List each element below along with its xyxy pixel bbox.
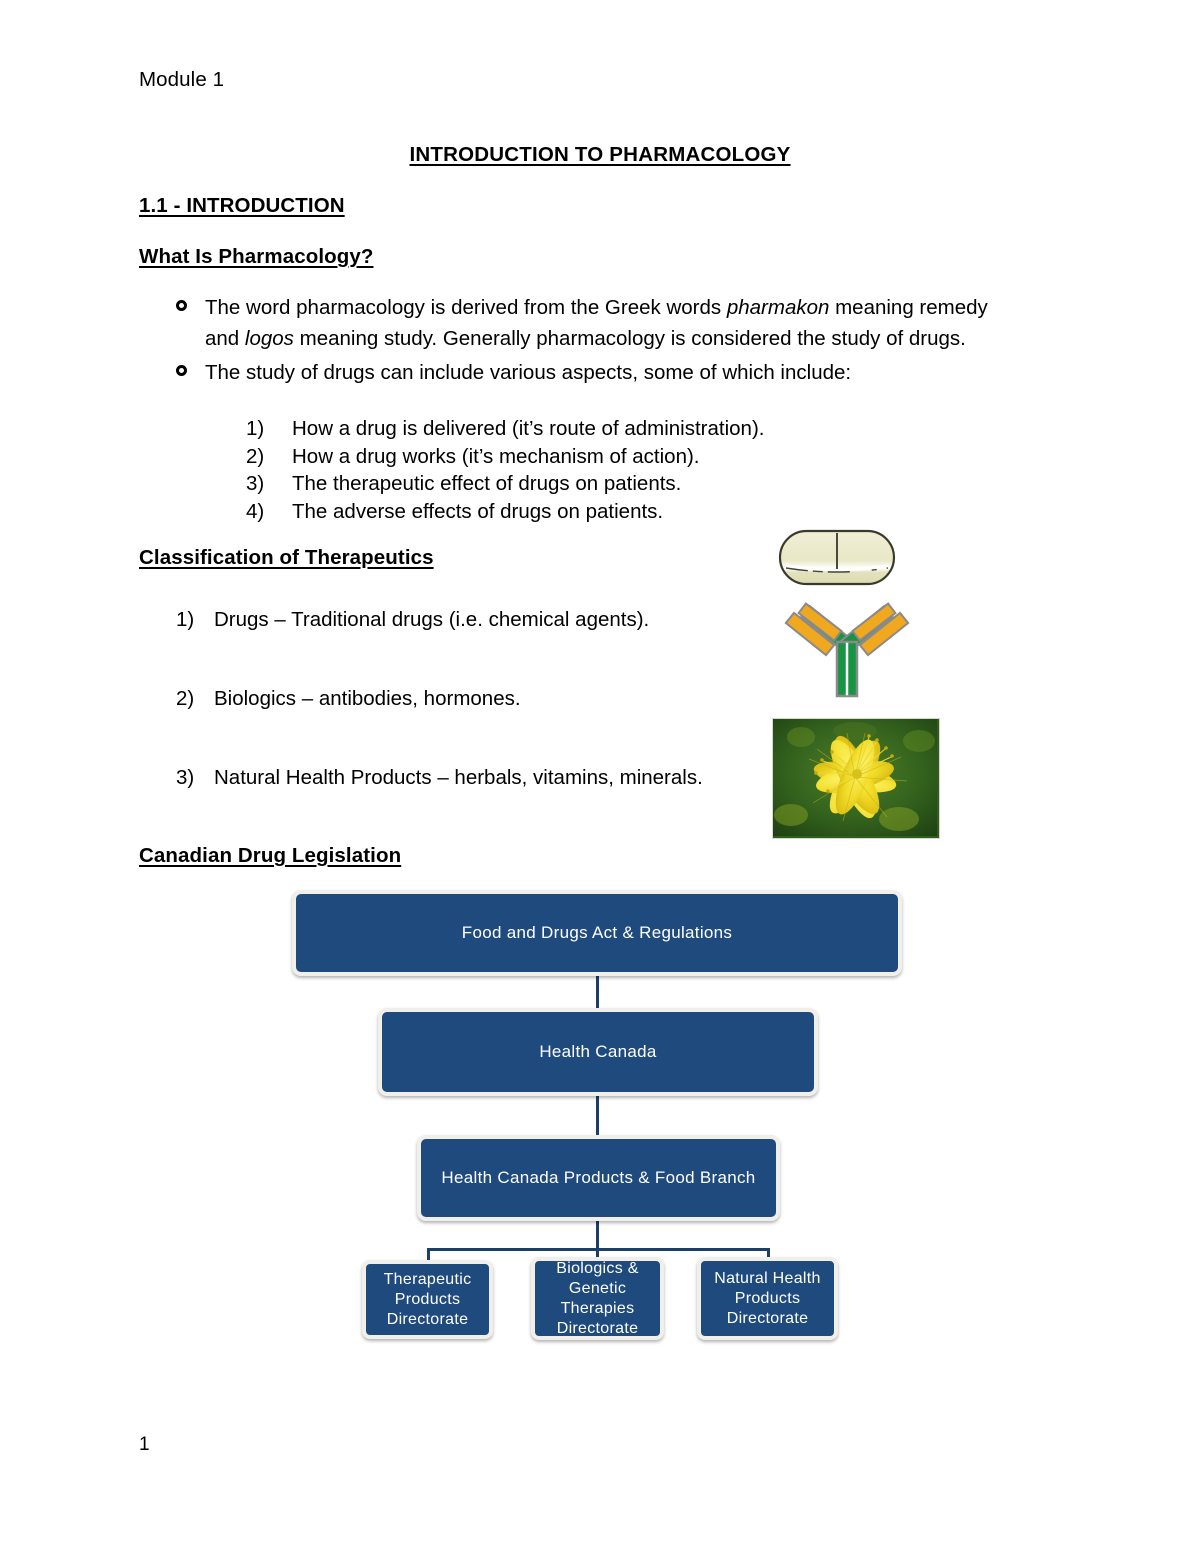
list-item-text: Biologics – antibodies, hormones.: [214, 687, 521, 711]
aspects-numbered-list: 1) How a drug is delivered (it’s route o…: [246, 415, 946, 525]
subheading-what-is-pharmacology: What Is Pharmacology?: [139, 245, 373, 269]
list-marker: 1): [176, 608, 214, 632]
list-item: The word pharmacology is derived from th…: [176, 292, 1021, 354]
list-item-text: Drugs – Traditional drugs (i.e. chemical…: [214, 608, 649, 632]
list-item-text: How a drug works (it’s mechanism of acti…: [292, 443, 700, 471]
flowchart-node-food-and-drugs-act[interactable]: Food and Drugs Act & Regulations: [292, 890, 902, 976]
list-marker: 2): [176, 687, 214, 711]
flowchart-node-biologics-genetic-therapies-directorate[interactable]: Biologics & Genetic Therapies Directorat…: [531, 1257, 664, 1340]
list-item: 3) Natural Health Products – herbals, vi…: [176, 766, 796, 845]
list-item-text: The adverse effects of drugs on patients…: [292, 498, 663, 526]
list-item: 2) Biologics – antibodies, hormones.: [176, 687, 796, 766]
list-item: 4) The adverse effects of drugs on patie…: [246, 498, 946, 526]
list-item-text: Natural Health Products – herbals, vitam…: [214, 766, 703, 790]
subheading-classification-of-therapeutics: Classification of Therapeutics: [139, 546, 434, 570]
subheading-canadian-drug-legislation: Canadian Drug Legislation: [139, 844, 401, 868]
list-item: 1) Drugs – Traditional drugs (i.e. chemi…: [176, 608, 796, 687]
list-item-text: How a drug is delivered (it’s route of a…: [292, 415, 764, 443]
connector-healthcanada-to-branch: [596, 1095, 599, 1137]
ring-bullet-icon: [176, 300, 187, 311]
list-marker: 4): [246, 498, 292, 526]
flowchart-node-health-canada[interactable]: Health Canada: [378, 1008, 818, 1096]
classification-numbered-list: 1) Drugs – Traditional drugs (i.e. chemi…: [176, 608, 796, 845]
st-johns-wort-flower-photo: [772, 718, 940, 839]
antibody-illustration: [781, 598, 913, 698]
list-item: The study of drugs can include various a…: [176, 357, 1021, 388]
list-marker: 3): [246, 470, 292, 498]
page-number: 1: [139, 1434, 150, 1456]
flowchart-node-health-canada-products-food-branch[interactable]: Health Canada Products & Food Branch: [417, 1135, 780, 1221]
canadian-drug-legislation-flowchart: Food and Drugs Act & Regulations Health …: [0, 880, 1200, 1370]
connector-act-to-healthcanada: [596, 972, 599, 1010]
list-marker: 3): [176, 766, 214, 790]
flowchart-node-natural-health-products-directorate[interactable]: Natural Health Products Directorate: [697, 1257, 838, 1340]
section-heading-introduction: 1.1 - INTRODUCTION: [139, 194, 345, 218]
bullet-text-aspects: The study of drugs can include various a…: [205, 357, 851, 388]
list-item: 2) How a drug works (it’s mechanism of a…: [246, 443, 946, 471]
module-label: Module 1: [139, 68, 224, 92]
flowchart-node-therapeutic-products-directorate[interactable]: Therapeutic Products Directorate: [362, 1260, 493, 1339]
ring-bullet-icon: [176, 365, 187, 376]
list-marker: 2): [246, 443, 292, 471]
page-title: INTRODUCTION TO PHARMACOLOGY: [0, 143, 1200, 167]
pharmacology-bullet-list: The word pharmacology is derived from th…: [176, 292, 1021, 391]
pill-tablet-illustration: [778, 529, 896, 586]
document-page: Module 1 INTRODUCTION TO PHARMACOLOGY 1.…: [0, 0, 1200, 1553]
list-item-text: The therapeutic effect of drugs on patie…: [292, 470, 681, 498]
list-item: 3) The therapeutic effect of drugs on pa…: [246, 470, 946, 498]
bullet-text-definition: The word pharmacology is derived from th…: [205, 292, 1021, 354]
connector-branch-to-distributor: [596, 1220, 599, 1250]
list-marker: 1): [246, 415, 292, 443]
list-item: 1) How a drug is delivered (it’s route o…: [246, 415, 946, 443]
